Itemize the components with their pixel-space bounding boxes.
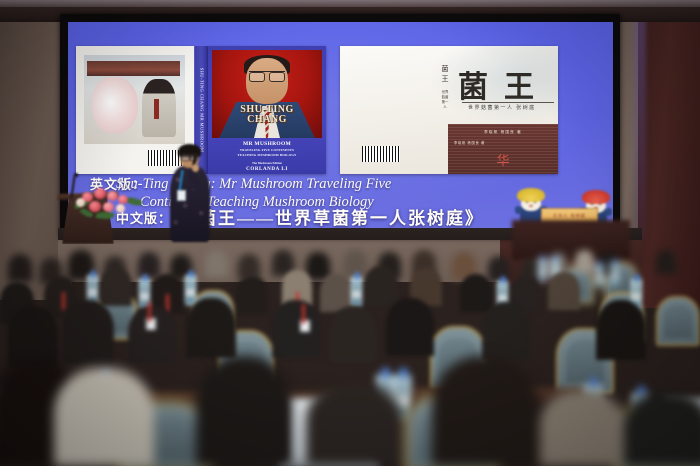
publisher-logo: 华 — [496, 150, 509, 169]
cover-big-title: 菌王 — [458, 62, 550, 106]
book-archival-photo — [84, 55, 185, 144]
book-subtitle: MR MUSHROOM — [208, 141, 326, 147]
book-cover-chinese: 菌王 世界菇菌第一人 菌王 世界菇菌第一人 张树庭 李晓帆 杨国良 著 李晓帆 … — [340, 46, 558, 174]
book-author: CORLANDA LI — [208, 167, 326, 172]
cover-band-authors: 李晓帆 杨国良 著 — [448, 130, 558, 135]
presenter-hand — [192, 164, 199, 172]
cover-rule — [462, 102, 554, 103]
cover-band-authors-2: 李晓帆 杨国良 著 — [454, 140, 485, 145]
photo-person — [142, 79, 176, 137]
photo-mushroom-bed — [92, 77, 138, 133]
book-edition: The Mushroom Edition — [208, 161, 326, 165]
stage-sign-text: 主办人 张树庭 — [553, 213, 586, 219]
portrait-glasses — [249, 71, 285, 80]
caption-cn-main: 《菌王——世界草菌第一人张树庭》 — [180, 204, 484, 228]
mascot-yellow-arm-left — [515, 206, 521, 214]
mascot-red-arm-right — [606, 208, 612, 216]
mascot-yellow-cap-icon — [517, 188, 545, 202]
photo-person-tie — [154, 99, 159, 119]
book-tagline-1: TRAVELING FIVE CONTINENTS — [208, 148, 326, 152]
cover-vertical-title: 菌王 — [440, 64, 450, 84]
photo-shelf — [87, 61, 180, 76]
mascot-red-cap-icon — [582, 190, 610, 204]
conference-photo: SHU-TING CHANG MR MUSHROOM SHU-TING CHAN… — [0, 0, 700, 466]
floral-arrangement — [72, 186, 144, 220]
ceiling-light-strip — [0, 0, 700, 7]
book-title-line-2: CHANG — [208, 114, 326, 125]
presenter-badge — [177, 190, 186, 201]
cover-subtitle: 世界菇菌第一人 张树庭 — [468, 104, 536, 111]
presenter — [168, 146, 214, 242]
cover-vertical-subtitle: 世界菇菌第一人 — [441, 90, 449, 110]
barcode-right — [362, 146, 400, 162]
lectern-microphone-head — [74, 173, 78, 177]
wall-accent-light — [634, 10, 646, 240]
book-front-cover-english: SHU-TING CHANG MR MUSHROOM TRAVELING FIV… — [208, 46, 326, 174]
book-tagline-2: TEACHING MUSHROOM BIOLOGY — [208, 153, 326, 157]
cover-color-band: 李晓帆 杨国良 著 李晓帆 杨国良 著 华 — [448, 124, 558, 174]
book-spine-text: SHU-TING CHANG MR MUSHROOM — [199, 68, 204, 153]
